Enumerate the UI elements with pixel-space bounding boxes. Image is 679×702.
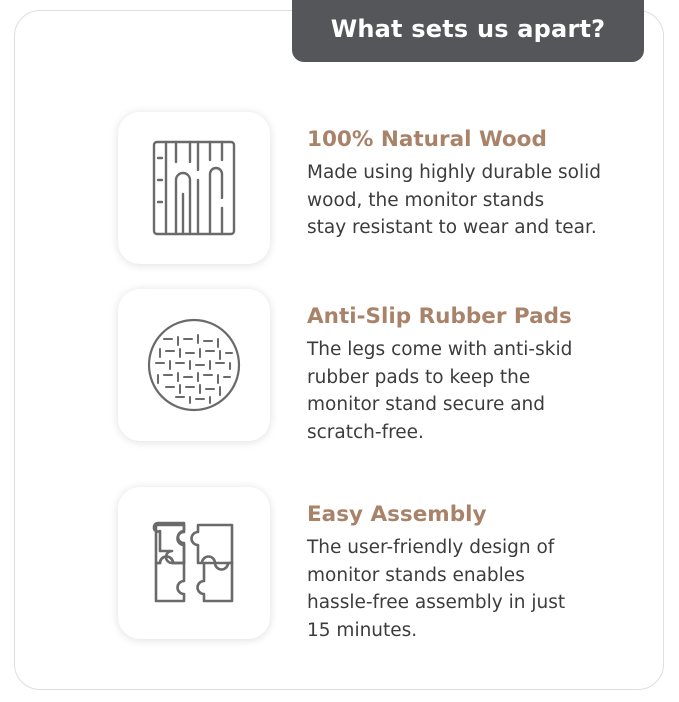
feature-text-block: Easy Assembly The user-friendly design o…: [307, 487, 565, 644]
feature-text-block: 100% Natural Wood Made using highly dura…: [307, 112, 601, 242]
header-banner: What sets us apart?: [292, 0, 644, 62]
feature-icon-container: [118, 289, 270, 441]
feature-title: Anti-Slip Rubber Pads: [307, 304, 572, 330]
feature-item-natural-wood: 100% Natural Wood Made using highly dura…: [118, 112, 618, 264]
feature-icon-container: [118, 112, 270, 264]
wood-grain-icon: [152, 140, 236, 236]
feature-description: The user-friendly design of monitor stan…: [307, 534, 565, 644]
feature-title: Easy Assembly: [307, 502, 565, 528]
feature-icon-container: [118, 487, 270, 639]
page-title: What sets us apart?: [331, 15, 606, 43]
rubber-pad-circle-icon: [146, 317, 242, 413]
puzzle-pieces-icon: [148, 517, 240, 609]
feature-description: Made using highly durable solid wood, th…: [307, 159, 601, 242]
feature-text-block: Anti-Slip Rubber Pads The legs come with…: [307, 289, 572, 446]
feature-item-anti-slip-pads: Anti-Slip Rubber Pads The legs come with…: [118, 289, 618, 446]
feature-item-easy-assembly: Easy Assembly The user-friendly design o…: [118, 487, 618, 644]
feature-description: The legs come with anti-skid rubber pads…: [307, 336, 572, 446]
feature-title: 100% Natural Wood: [307, 127, 601, 153]
feature-highlights-page: What sets us apart?: [0, 0, 679, 702]
